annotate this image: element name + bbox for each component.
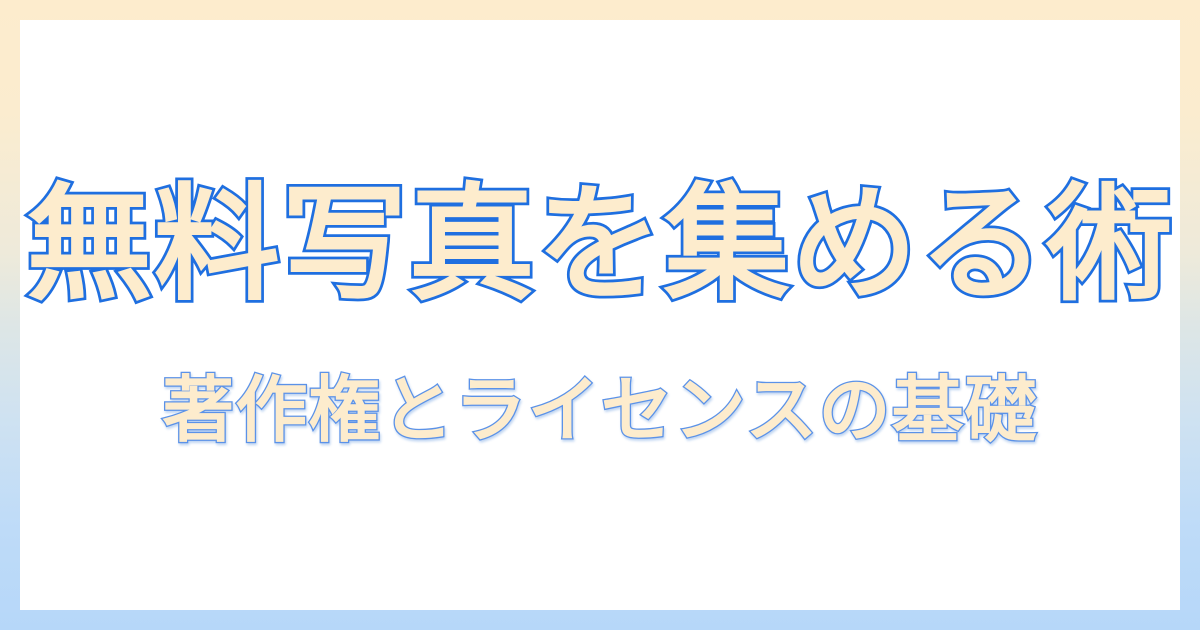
text-stack: 無料写真を集める術 著作権とライセンスの基礎 bbox=[20, 121, 1180, 508]
thumbnail-canvas: 無料写真を集める術 著作権とライセンスの基礎 bbox=[0, 0, 1200, 630]
page-title: 無料写真を集める術 bbox=[26, 177, 1174, 313]
inner-white-card: 無料写真を集める術 著作権とライセンスの基礎 bbox=[20, 20, 1180, 610]
page-subtitle: 著作権とライセンスの基礎 bbox=[162, 371, 1038, 450]
